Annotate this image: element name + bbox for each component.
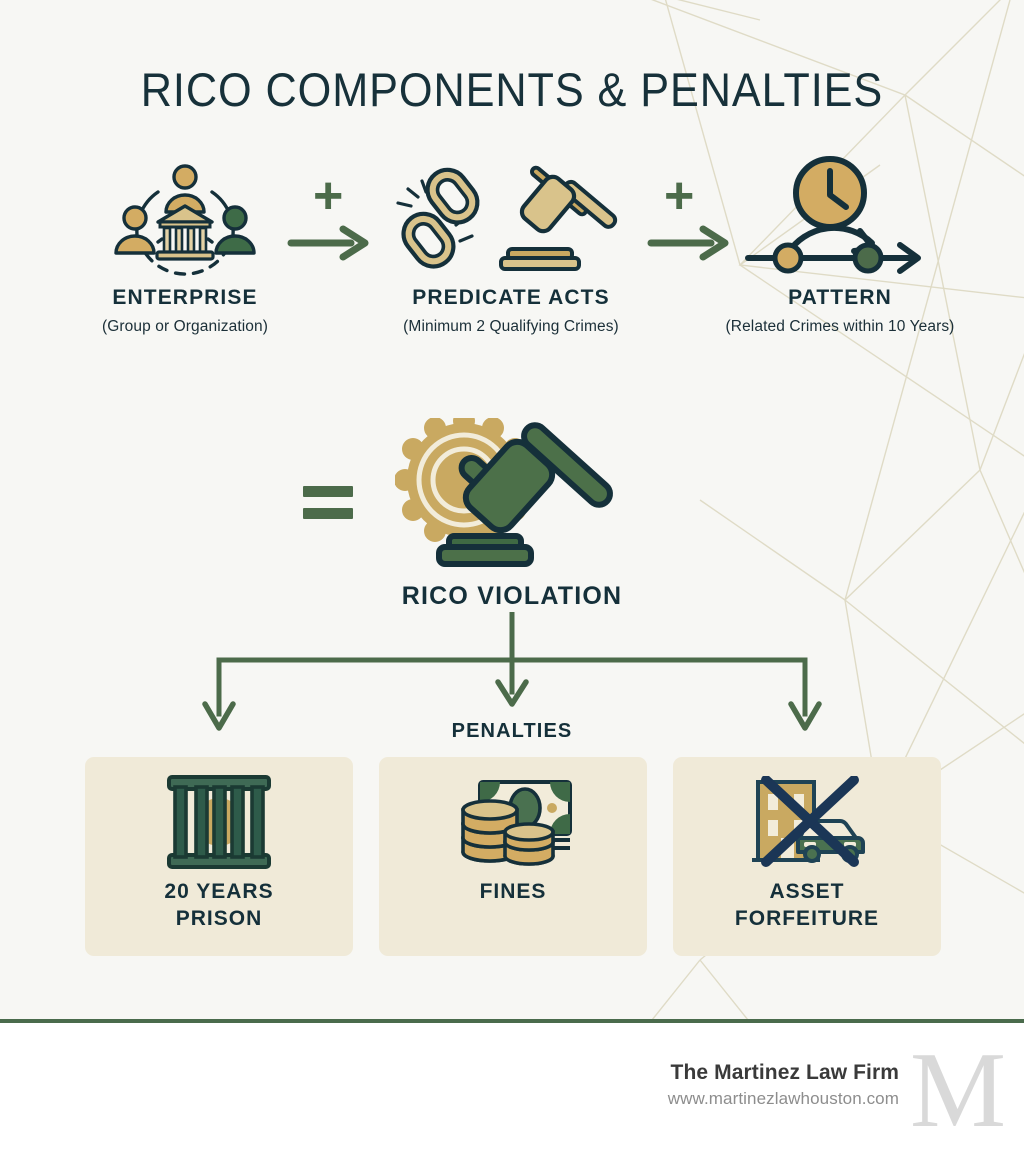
penalty-cards: 20 YEARS PRISON (0, 757, 1024, 957)
component-predicate-acts: PREDICATE ACTS (Minimum 2 Qualifying Cri… (350, 150, 672, 336)
equals-bar-bottom (303, 508, 353, 519)
infographic-canvas: RICO COMPONENTS & PENALTIES (0, 0, 1024, 1022)
component-sublabel: (Related Crimes within 10 Years) (690, 318, 990, 336)
predicate-acts-icon-box (350, 150, 672, 280)
rico-infographic: RICO COMPONENTS & PENALTIES (0, 0, 1024, 1154)
component-label: PREDICATE ACTS (350, 286, 672, 310)
component-pattern: PATTERN (Related Crimes within 10 Years) (690, 150, 990, 336)
component-label: PATTERN (690, 286, 990, 310)
components-row: ENTERPRISE (Group or Organization) (0, 150, 1024, 390)
firm-name: The Martinez Law Firm (668, 1061, 899, 1085)
penalty-label-line2: FORFEITURE (681, 906, 933, 933)
pattern-icon-box (690, 150, 990, 280)
firm-monogram-logo: M (910, 1037, 1006, 1145)
plus-operator-1: + (313, 170, 343, 222)
enterprise-group-building-icon (100, 150, 270, 280)
equals-bar-top (303, 486, 353, 497)
prison-icon-box (85, 757, 353, 879)
right-arrow-icon-1 (285, 222, 375, 264)
penalties-heading: PENALTIES (0, 720, 1024, 743)
broken-chain-gavel-icon (386, 153, 636, 278)
penalty-label-line1: 20 YEARS (93, 879, 345, 906)
penalty-card-label: 20 YEARS PRISON (85, 879, 353, 933)
gavel-seal-icon (395, 418, 627, 568)
component-label: ENTERPRISE (40, 286, 330, 310)
money-coins-icon (452, 776, 574, 868)
penalty-label-line1: ASSET (681, 879, 933, 906)
penalty-card-prison[interactable]: 20 YEARS PRISON (85, 757, 353, 956)
penalty-label-line1: FINES (387, 879, 639, 906)
fines-icon-box (379, 757, 647, 879)
penalty-label-line2: PRISON (93, 906, 345, 933)
component-sublabel: (Minimum 2 Qualifying Crimes) (350, 318, 672, 336)
rico-violation-label: RICO VIOLATION (0, 582, 1024, 611)
footer-text-block: The Martinez Law Firm www.martinezlawhou… (668, 1061, 899, 1109)
asset-forfeiture-icon-box (673, 757, 941, 879)
firm-website[interactable]: www.martinezlawhouston.com (668, 1089, 899, 1109)
penalty-card-asset-forfeiture[interactable]: ASSET FORFEITURE (673, 757, 941, 956)
penalty-card-fines[interactable]: FINES (379, 757, 647, 956)
page-title: RICO COMPONENTS & PENALTIES (41, 62, 983, 117)
equals-operator (303, 486, 353, 519)
penalty-card-label: FINES (379, 879, 647, 906)
footer: The Martinez Law Firm www.martinezlawhou… (0, 1023, 1024, 1154)
crossed-out-assets-icon (748, 776, 866, 868)
prison-bars-icon (163, 773, 275, 871)
right-arrow-icon-2 (645, 222, 735, 264)
timeline-clock-icon (740, 153, 940, 278)
component-sublabel: (Group or Organization) (40, 318, 330, 336)
plus-operator-2: + (664, 170, 694, 222)
penalty-card-label: ASSET FORFEITURE (673, 879, 941, 933)
